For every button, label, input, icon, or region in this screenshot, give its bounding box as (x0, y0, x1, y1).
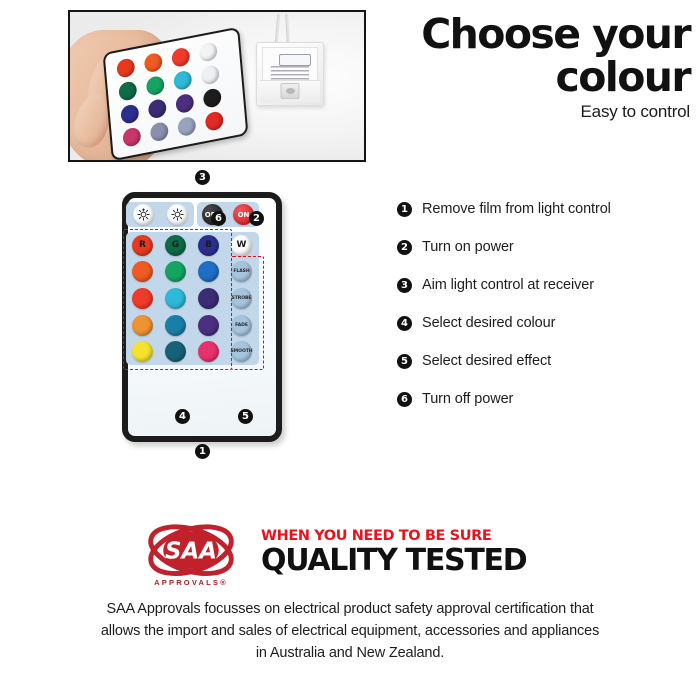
receiver-base (260, 80, 320, 103)
instruction-row: 3Aim light control at receiver (397, 276, 687, 314)
effect-button-fade[interactable]: FADE (231, 315, 252, 336)
receiver-port (281, 83, 300, 99)
instruction-label: Select desired colour (422, 314, 555, 332)
photo-remote-button (120, 103, 139, 124)
photo-remote-button-grid (112, 40, 228, 151)
photo-remote-button (199, 41, 218, 62)
heading-line-1: Choose your (382, 14, 690, 55)
colour-button-r5c3[interactable] (198, 341, 219, 362)
receiver-label (262, 47, 318, 81)
instruction-row: 4Select desired colour (397, 314, 687, 352)
receiver-diagram-icon (279, 54, 311, 66)
colour-button-b[interactable]: B (198, 235, 219, 256)
callout-badge-2: 2 (249, 211, 264, 226)
colour-button-r4c1[interactable] (132, 315, 153, 336)
photo-remote-button (171, 47, 190, 68)
instruction-label: Remove film from light control (422, 200, 611, 218)
saa-quality-block: SAA APPROVALS® WHEN YOU NEED TO BE SURE … (0, 518, 700, 588)
photo-remote-button (144, 52, 163, 73)
instruction-row: 2Turn on power (397, 238, 687, 276)
callout-badge-5: 5 (238, 409, 253, 424)
instruction-number-badge: 5 (397, 354, 412, 369)
receiver-wire (275, 14, 281, 44)
instruction-row: 6Turn off power (397, 390, 687, 428)
remote-control-diagram: OFF ON RGBWFLASHSTROBEFADESMOOTH 3 6 2 4… (118, 168, 298, 463)
photo-remote-button (118, 80, 137, 101)
brightness-down-button[interactable] (167, 204, 188, 225)
colour-button-r2c2[interactable] (165, 261, 186, 282)
colour-button-r3c1[interactable] (132, 288, 153, 309)
receiver-wire (285, 14, 290, 44)
instruction-label: Turn off power (422, 390, 513, 408)
saa-approvals-text: APPROVALS® (139, 578, 243, 587)
instruction-list: 1Remove film from light control2Turn on … (397, 200, 687, 428)
photo-remote-button (148, 98, 167, 119)
colour-button-g[interactable]: G (165, 235, 186, 256)
saa-logo: SAA APPROVALS® (139, 518, 243, 588)
photo-remote-button (173, 70, 192, 91)
sun-icon (137, 208, 150, 221)
photo-remote-button (203, 87, 222, 108)
instruction-number-badge: 3 (397, 278, 412, 293)
heading-subtitle: Easy to control (382, 102, 690, 122)
photo-remote-button (177, 116, 196, 137)
colour-button-r[interactable]: R (132, 235, 153, 256)
sun-icon (171, 208, 184, 221)
brightness-up-button[interactable] (133, 204, 154, 225)
callout-badge-1: 1 (195, 444, 210, 459)
quality-text-block: WHEN YOU NEED TO BE SURE QUALITY TESTED (261, 529, 561, 578)
colour-button-r2c1[interactable] (132, 261, 153, 282)
colour-button-r3c2[interactable] (165, 288, 186, 309)
photo-remote-button (150, 121, 169, 142)
svg-text:SAA: SAA (165, 539, 217, 565)
colour-button-r4c2[interactable] (165, 315, 186, 336)
colour-button-r5c1[interactable] (132, 341, 153, 362)
colour-button-r5c2[interactable] (165, 341, 186, 362)
quality-tagline: WHEN YOU NEED TO BE SURE (261, 529, 561, 544)
colour-button-r4c3[interactable] (198, 315, 219, 336)
saa-description-paragraph: SAA Approvals focusses on electrical pro… (95, 598, 605, 664)
product-photo-panel (68, 10, 366, 162)
photo-remote-button (116, 57, 135, 78)
remote-button-grid: RGBWFLASHSTROBEFADESMOOTH (126, 232, 259, 365)
instruction-number-badge: 4 (397, 316, 412, 331)
effect-button-flash[interactable]: FLASH (231, 261, 252, 282)
photo-remote-button (175, 93, 194, 114)
instruction-number-badge: 1 (397, 202, 412, 217)
callout-badge-4: 4 (175, 409, 190, 424)
instruction-number-badge: 6 (397, 392, 412, 407)
callout-badge-3: 3 (195, 170, 210, 185)
colour-button-r3c3[interactable] (198, 288, 219, 309)
led-receiver-box (256, 42, 324, 106)
photo-remote-button (122, 126, 141, 147)
colour-button-r2c3[interactable] (198, 261, 219, 282)
remote-top-panel: OFF ON (126, 202, 259, 227)
receiver-label-text (271, 66, 309, 80)
instruction-row: 5Select desired effect (397, 352, 687, 390)
instruction-row: 1Remove film from light control (397, 200, 687, 238)
instruction-label: Select desired effect (422, 352, 551, 370)
instruction-label: Turn on power (422, 238, 514, 256)
remote-button-grid-panel: RGBWFLASHSTROBEFADESMOOTH (126, 232, 259, 365)
callout-badge-6: 6 (211, 211, 226, 226)
brightness-button-group (126, 202, 194, 227)
colour-button-w[interactable]: W (231, 235, 252, 256)
photo-remote-button (205, 110, 224, 131)
photo-remote-button (146, 75, 165, 96)
instruction-number-badge: 2 (397, 240, 412, 255)
effect-button-strobe[interactable]: STROBE (231, 288, 252, 309)
heading-line-2: colour (382, 57, 690, 98)
page-title: Choose your colour Easy to control (382, 14, 690, 122)
quality-headline: QUALITY TESTED (261, 545, 561, 577)
photo-background (70, 12, 364, 160)
photo-remote-button (201, 64, 220, 85)
effect-button-smooth[interactable]: SMOOTH (231, 341, 252, 362)
instruction-label: Aim light control at receiver (422, 276, 594, 294)
